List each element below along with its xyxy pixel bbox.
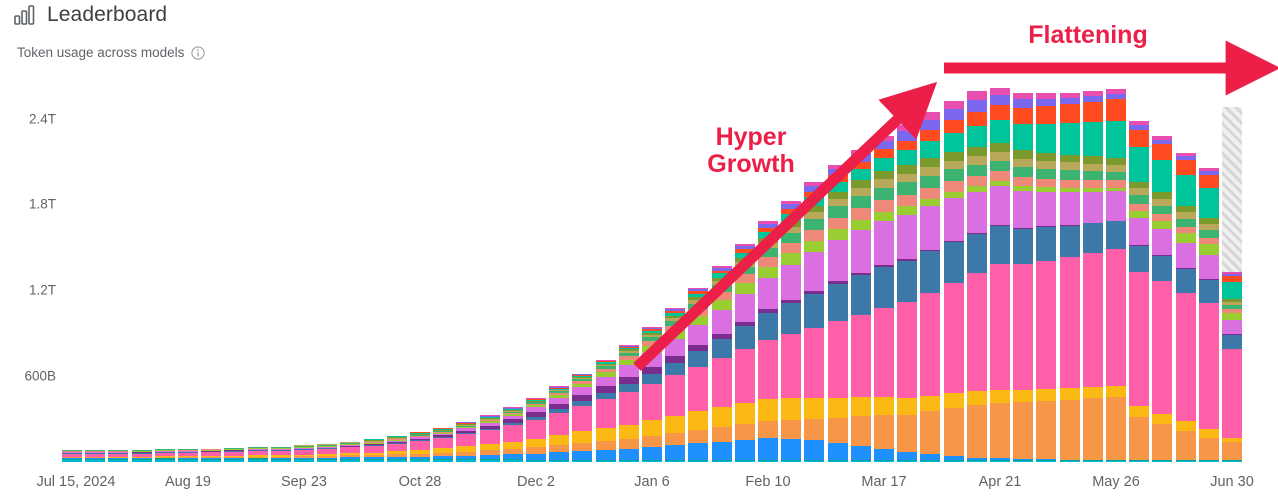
bar-segment	[1060, 180, 1080, 188]
bar-segment	[967, 100, 987, 113]
bar-segment	[712, 442, 732, 461]
flattening-label: Flattening	[1008, 22, 1168, 49]
bar-segment	[874, 200, 894, 212]
bar-segment	[874, 449, 894, 460]
stacked-bar[interactable]	[271, 447, 291, 462]
bar-segment	[944, 181, 964, 192]
bar-segment	[944, 152, 964, 161]
bar-segment	[712, 461, 732, 462]
x-axis-tick: Sep 23	[281, 474, 327, 490]
bar-segment	[1013, 177, 1033, 186]
bar-segment	[1036, 461, 1056, 462]
bar-segment	[665, 375, 685, 415]
stacked-bar[interactable]	[108, 450, 128, 462]
bar-segment	[990, 171, 1010, 181]
bar-segment	[387, 460, 407, 462]
bar-segment	[874, 179, 894, 188]
bar-segment	[1129, 147, 1149, 181]
stacked-bar[interactable]	[433, 428, 453, 462]
bar-segment	[642, 346, 662, 353]
bar-segment	[920, 461, 940, 462]
bar-segment	[920, 120, 940, 131]
bar-segment	[897, 302, 917, 398]
stacked-bar[interactable]	[155, 449, 175, 462]
stacked-bar[interactable]	[758, 221, 778, 462]
stacked-bar[interactable]	[410, 432, 430, 462]
annotation-text: Growth	[686, 151, 816, 178]
bar-segment	[735, 461, 755, 462]
bar-segment	[758, 421, 778, 438]
stacked-bar[interactable]	[178, 449, 198, 462]
stacked-bar[interactable]	[1036, 93, 1056, 462]
stacked-bar[interactable]	[364, 439, 384, 462]
bar-segment	[1036, 153, 1056, 161]
bar-segment	[758, 267, 778, 278]
stacked-bar[interactable]	[1106, 89, 1126, 462]
stacked-bar[interactable]	[387, 436, 407, 462]
annotation-text: Flattening	[1008, 22, 1168, 49]
bar-segment	[1129, 204, 1149, 211]
bar-segment	[758, 438, 778, 461]
stacked-bar-partial[interactable]	[1222, 107, 1242, 462]
bar-segment	[920, 411, 940, 454]
bar-segment	[920, 158, 940, 167]
bar-segment	[549, 452, 569, 459]
bar-segment	[619, 425, 639, 440]
stacked-bar[interactable]	[132, 450, 152, 462]
bar-segment	[642, 353, 662, 367]
info-icon[interactable]	[191, 46, 205, 60]
bar-segment	[549, 413, 569, 435]
bar-segment	[990, 95, 1010, 105]
bar-segment	[1199, 175, 1219, 188]
bar-segment	[944, 242, 964, 283]
bar-segment	[1106, 461, 1126, 462]
bar-segment	[1129, 195, 1149, 203]
bar-segment	[1129, 272, 1149, 406]
bar-segment	[572, 387, 592, 395]
page-title: Leaderboard	[47, 2, 167, 28]
bar-segment	[503, 425, 523, 441]
bar-segment	[897, 174, 917, 183]
bar-segment	[874, 415, 894, 449]
bar-segment	[735, 440, 755, 461]
bar-segment	[619, 377, 639, 384]
stacked-bar[interactable]	[596, 360, 616, 462]
stacked-bar[interactable]	[456, 422, 476, 462]
bar-segment	[897, 141, 917, 151]
bar-segment	[851, 196, 871, 208]
bar-segment	[804, 398, 824, 419]
bar-segment	[735, 403, 755, 424]
stacked-bar[interactable]	[781, 201, 801, 462]
bar-segment	[1176, 421, 1196, 431]
stacked-bar[interactable]	[224, 448, 244, 462]
bar-segment	[1176, 219, 1196, 227]
stacked-bar[interactable]	[944, 101, 964, 462]
bar-segment	[596, 377, 616, 387]
bar-segment	[758, 257, 778, 267]
bar-segment	[1036, 261, 1056, 389]
bar-segment	[851, 315, 871, 398]
bar-segment	[1013, 150, 1033, 158]
bar-segment	[1222, 282, 1242, 299]
bar-segment	[920, 130, 940, 141]
bar-segment	[1106, 191, 1126, 220]
stacked-bar[interactable]	[828, 165, 848, 462]
bar-segment	[1222, 335, 1242, 349]
bar-segment	[804, 440, 824, 460]
x-axis-tick: Jun 30	[1210, 474, 1254, 490]
bar-segment	[1060, 226, 1080, 257]
bar-segment	[851, 416, 871, 446]
bar-segment	[828, 199, 848, 207]
stacked-bar[interactable]	[874, 136, 894, 463]
bar-segment	[1106, 397, 1126, 460]
bar-segment	[1013, 264, 1033, 390]
bar-segment	[712, 339, 732, 358]
bar-segment	[688, 461, 708, 462]
bar-segment	[944, 198, 964, 241]
bar-segment	[804, 419, 824, 440]
x-axis-tick: May 26	[1092, 474, 1140, 490]
bar-segment	[688, 430, 708, 443]
bar-segment	[1152, 144, 1172, 160]
bar-segment	[224, 460, 244, 462]
bar-segment	[758, 248, 778, 257]
bar-segment	[572, 431, 592, 443]
stacked-bar[interactable]	[85, 450, 105, 462]
bar-segment	[688, 316, 708, 325]
bar-segment	[990, 143, 1010, 152]
chart-plot-area: 600B1.2T1.8T2.4T	[0, 78, 1278, 468]
bar-segment	[572, 461, 592, 462]
bar-segment	[967, 176, 987, 186]
bar-segment	[1036, 106, 1056, 124]
bar-segment	[897, 461, 917, 462]
bar-segment	[596, 450, 616, 460]
x-axis-labels: Jul 15, 2024Aug 19Sep 23Oct 28Dec 2Jan 6…	[0, 470, 1278, 503]
stacked-bar[interactable]	[642, 327, 662, 462]
bar-segment	[642, 384, 662, 420]
bar-segment	[944, 283, 964, 394]
stacked-bar[interactable]	[572, 374, 592, 462]
bar-series-container	[0, 78, 1278, 468]
bar-segment	[851, 230, 871, 273]
stacked-bar[interactable]	[201, 449, 221, 462]
bar-segment	[758, 278, 778, 309]
bar-segment	[712, 427, 732, 442]
bar-segment	[851, 154, 871, 161]
bar-segment	[851, 275, 871, 315]
bar-segment	[1083, 387, 1103, 398]
bar-segment	[828, 398, 848, 418]
bar-segment	[967, 405, 987, 458]
panel-subtitle: Token usage across models	[17, 44, 184, 62]
stacked-bar[interactable]	[920, 112, 940, 462]
bar-segment	[944, 393, 964, 407]
bar-segment	[920, 396, 940, 411]
stacked-bar[interactable]	[62, 450, 82, 462]
bar-segment	[712, 292, 732, 300]
stacked-bar[interactable]	[619, 345, 639, 462]
bar-segment	[758, 340, 778, 399]
bar-segment	[642, 374, 662, 384]
bar-segment	[967, 461, 987, 462]
bar-segment	[781, 398, 801, 419]
stacked-bar[interactable]	[248, 447, 268, 462]
bar-segment	[990, 390, 1010, 403]
bar-segment	[1013, 159, 1033, 167]
bar-segment	[804, 197, 824, 205]
bar-segment	[804, 212, 824, 219]
bar-segment	[688, 351, 708, 366]
bar-segment	[944, 169, 964, 181]
bar-segment	[781, 420, 801, 439]
bar-segment	[897, 150, 917, 165]
stacked-bar[interactable]	[503, 407, 523, 462]
annotation-text: Hyper	[686, 124, 816, 151]
bar-segment	[665, 339, 685, 356]
bar-segment	[781, 243, 801, 254]
x-axis-tick: Dec 2	[517, 474, 555, 490]
bar-segment	[735, 283, 755, 294]
bar-segment	[480, 460, 500, 462]
bar-segment	[619, 461, 639, 462]
bar-segment	[920, 188, 940, 199]
bar-segment	[851, 162, 871, 170]
bar-segment	[1060, 123, 1080, 155]
bar-segment	[688, 443, 708, 460]
stacked-bar[interactable]	[1176, 153, 1196, 462]
bar-segment	[1176, 293, 1196, 421]
bar-segment	[155, 460, 175, 462]
bar-segment	[1222, 461, 1242, 462]
bar-segment	[1036, 179, 1056, 188]
bar-segment	[1222, 349, 1242, 438]
stacked-bar[interactable]	[851, 150, 871, 462]
bar-chart-icon	[14, 5, 38, 25]
bar-segment	[944, 133, 964, 152]
bar-segment	[967, 147, 987, 156]
bar-segment	[804, 219, 824, 229]
bar-segment	[851, 188, 871, 196]
bar-segment	[874, 212, 894, 221]
bar-segment	[248, 460, 268, 462]
bar-segment	[1199, 280, 1219, 303]
bar-segment	[874, 461, 894, 462]
bar-segment	[1106, 172, 1126, 181]
stacked-bar[interactable]	[967, 91, 987, 462]
bar-segment	[920, 199, 940, 206]
bar-segment	[712, 310, 732, 334]
bar-segment	[456, 460, 476, 462]
bar-segment	[1176, 461, 1196, 462]
bar-segment	[804, 252, 824, 290]
bar-segment	[851, 446, 871, 460]
bar-segment	[1060, 461, 1080, 462]
bar-segment	[619, 392, 639, 425]
bar-segment	[596, 461, 616, 462]
bar-segment	[781, 265, 801, 300]
bar-segment	[897, 215, 917, 260]
stacked-bar[interactable]	[897, 125, 917, 462]
bar-segment	[410, 460, 430, 462]
bar-segment	[874, 188, 894, 200]
bar-segment	[619, 384, 639, 392]
bar-segment	[712, 358, 732, 407]
x-axis-tick: Jan 6	[634, 474, 669, 490]
stacked-bar[interactable]	[549, 386, 569, 462]
bar-segment	[1060, 400, 1080, 460]
leaderboard-chart-panel: Leaderboard Token usage across models 60…	[0, 0, 1278, 503]
bar-segment	[1222, 313, 1242, 320]
bar-segment	[828, 461, 848, 462]
stacked-bar[interactable]	[526, 398, 546, 462]
bar-segment	[665, 363, 685, 376]
bar-segment	[781, 233, 801, 243]
hyper-growth-label: HyperGrowth	[686, 124, 816, 178]
bar-segment	[1176, 431, 1196, 459]
bar-segment	[920, 176, 940, 188]
bar-segment	[804, 294, 824, 328]
bar-segment	[712, 285, 732, 292]
stacked-bar[interactable]	[735, 244, 755, 462]
bar-segment	[642, 447, 662, 460]
bar-segment	[1083, 171, 1103, 180]
bar-segment	[990, 403, 1010, 459]
bar-segment	[735, 424, 755, 440]
stacked-bar[interactable]	[1199, 168, 1219, 462]
bar-segment	[642, 420, 662, 436]
bar-segment	[1083, 192, 1103, 223]
bar-segment	[665, 445, 685, 460]
stacked-bar[interactable]	[990, 88, 1010, 462]
stacked-bar[interactable]	[1060, 93, 1080, 462]
bar-segment	[1013, 390, 1033, 402]
bar-segment	[1176, 233, 1196, 243]
bar-segment	[271, 460, 291, 462]
bar-segment	[874, 267, 894, 308]
x-axis-tick: Oct 28	[399, 474, 442, 490]
bar-segment	[920, 141, 940, 158]
stacked-bar[interactable]	[1152, 136, 1172, 462]
bar-segment	[874, 141, 894, 149]
stacked-bar[interactable]	[317, 444, 337, 462]
bar-segment	[1036, 192, 1056, 227]
bar-segment	[874, 149, 894, 158]
bar-segment	[1129, 246, 1149, 273]
bar-segment	[1199, 244, 1219, 255]
stacked-bar[interactable]	[1083, 91, 1103, 462]
bar-segment	[688, 325, 708, 345]
bar-segment	[897, 195, 917, 207]
stacked-bar[interactable]	[665, 308, 685, 462]
bar-segment	[1013, 108, 1033, 124]
bar-segment	[897, 398, 917, 415]
bar-segment	[897, 182, 917, 194]
stacked-bar[interactable]	[1013, 93, 1033, 462]
bar-segment	[1152, 461, 1172, 462]
bar-segment	[944, 120, 964, 132]
x-axis-tick: Apr 21	[979, 474, 1022, 490]
bar-segment	[526, 420, 546, 439]
bar-segment	[828, 284, 848, 321]
bar-segment	[433, 438, 453, 448]
bar-segment	[944, 101, 964, 109]
bar-segment	[828, 218, 848, 230]
stacked-bar[interactable]	[688, 288, 708, 462]
panel-subtitle-row: Token usage across models	[17, 44, 205, 62]
bar-segment	[781, 303, 801, 334]
bar-segment	[851, 461, 871, 462]
bar-segment	[526, 461, 546, 462]
bar-segment	[944, 461, 964, 462]
stacked-bar[interactable]	[480, 415, 500, 462]
bar-segment	[317, 460, 337, 462]
bar-segment	[410, 441, 430, 450]
bar-segment	[1199, 438, 1219, 459]
bar-segment	[596, 441, 616, 450]
bar-segment	[990, 152, 1010, 161]
bar-segment	[897, 452, 917, 461]
bar-segment	[990, 88, 1010, 95]
bar-segment	[480, 430, 500, 444]
bar-segment	[897, 131, 917, 140]
stacked-bar[interactable]	[804, 182, 824, 462]
bar-segment	[1106, 165, 1126, 172]
bar-segment	[781, 214, 801, 221]
bar-segment	[85, 460, 105, 462]
stacked-bar[interactable]	[712, 266, 732, 462]
bar-segment	[1106, 158, 1126, 165]
bar-segment	[758, 461, 778, 462]
stacked-bar[interactable]	[1129, 121, 1149, 462]
bar-segment	[781, 253, 801, 265]
x-axis-tick: Aug 19	[165, 474, 211, 490]
bar-segment	[1129, 461, 1149, 462]
bar-segment	[920, 206, 940, 250]
stacked-bar[interactable]	[340, 442, 360, 462]
bar-segment	[897, 206, 917, 214]
bar-segment	[619, 449, 639, 460]
bar-segment	[1222, 442, 1242, 459]
x-axis-tick: Mar 17	[861, 474, 906, 490]
bar-segment	[1176, 243, 1196, 268]
bar-segment	[944, 109, 964, 121]
bar-segment	[804, 328, 824, 398]
bar-segment	[1106, 121, 1126, 158]
bar-segment	[1083, 253, 1103, 387]
bar-segment	[967, 273, 987, 391]
bar-segment	[642, 436, 662, 447]
bar-segment	[1060, 162, 1080, 170]
bar-segment	[1036, 401, 1056, 460]
bar-segment	[596, 428, 616, 441]
bar-segment	[1152, 192, 1172, 199]
bar-segment	[851, 397, 871, 416]
bar-segment	[665, 356, 685, 363]
stacked-bar[interactable]	[294, 445, 314, 462]
bar-segment	[1152, 221, 1172, 230]
bar-segment	[828, 418, 848, 444]
bar-segment	[967, 391, 987, 404]
bar-segment	[1060, 388, 1080, 399]
bar-segment	[1152, 160, 1172, 193]
bar-segment	[132, 460, 152, 462]
bar-segment	[1152, 424, 1172, 460]
bar-segment	[364, 460, 384, 462]
